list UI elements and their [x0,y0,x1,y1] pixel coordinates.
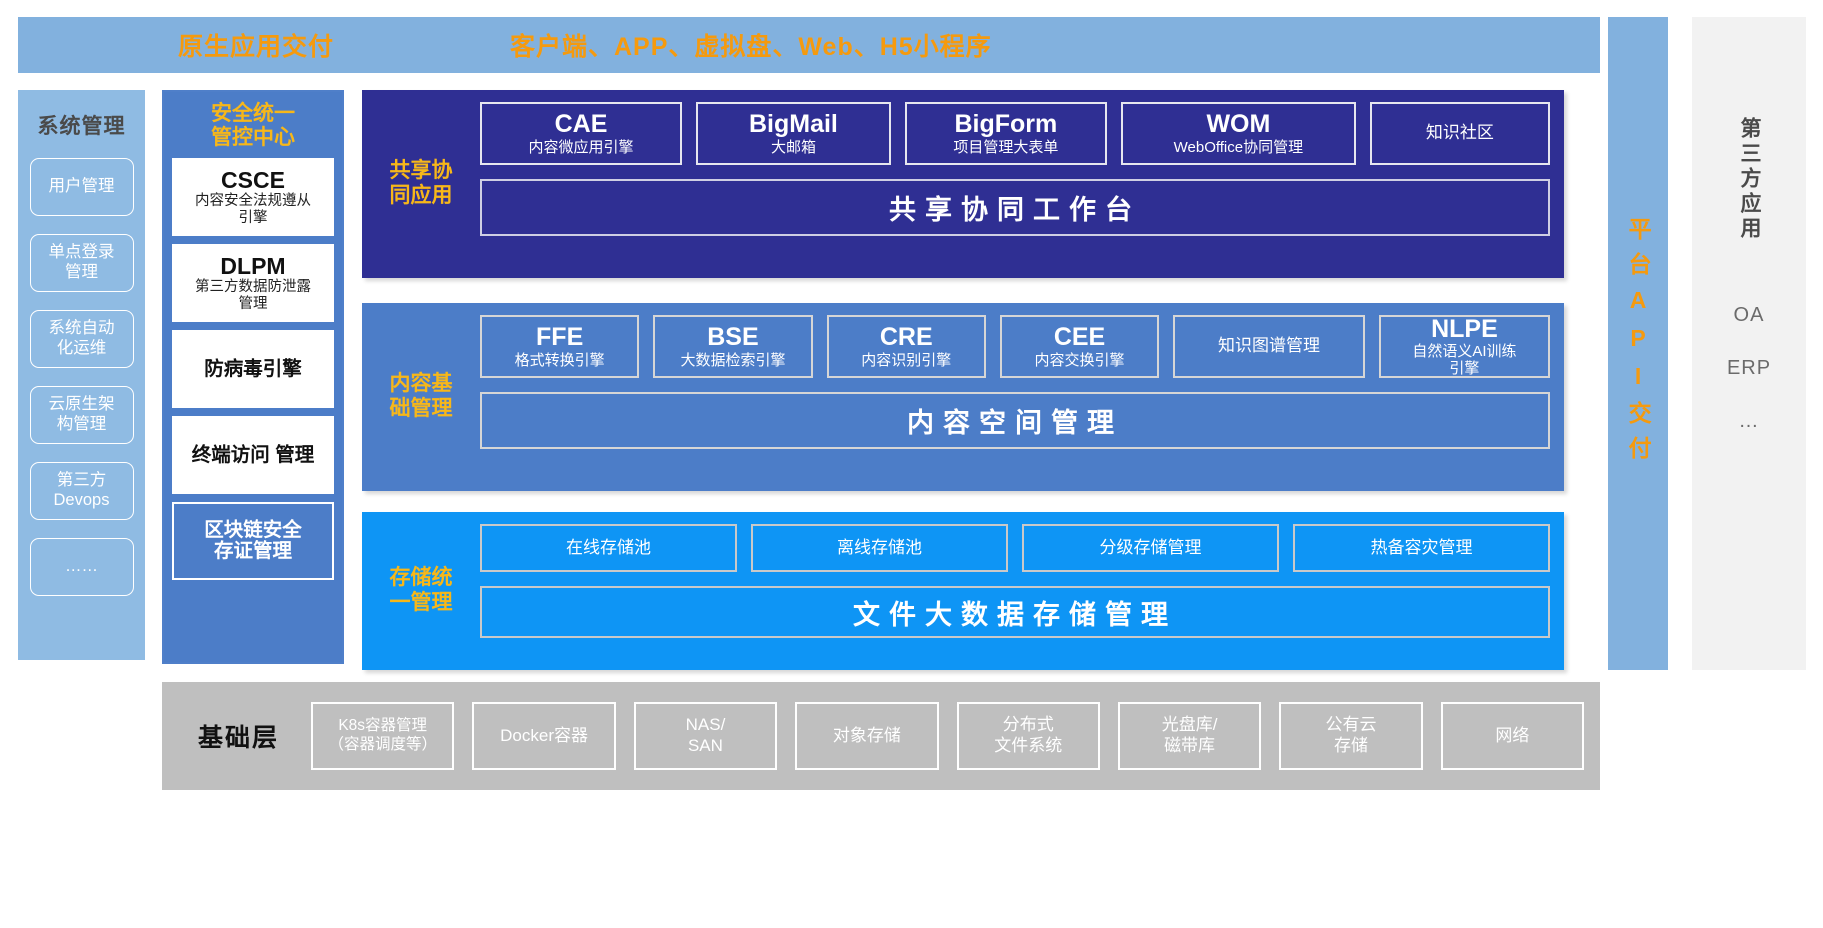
csce-abbr: CSCE [221,168,285,193]
top-delivery-banner: 原生应用交付 客户端、APP、虚拟盘、Web、H5小程序 [18,17,1600,73]
security-item-antivirus-engine[interactable]: 防病毒引擎 [172,330,334,408]
architecture-diagram: 原生应用交付 客户端、APP、虚拟盘、Web、H5小程序 系统管理 用户管理 单… [0,0,1823,928]
ffe-desc: 格式转换引擎 [515,352,605,369]
ffe-abbr: FFE [536,324,583,352]
antivirus-engine-label: 防病毒引擎 [204,359,302,380]
chip-nlpe[interactable]: NLPE 自然语义AI训练 引擎 [1379,315,1550,378]
chip-ffe[interactable]: FFE 格式转换引擎 [480,315,639,378]
chip-cre[interactable]: CRE 内容识别引擎 [827,315,986,378]
nlpe-abbr: NLPE [1431,316,1498,344]
shared-collaboration-label: 共享协 同应用 [362,90,480,278]
third-party-apps-panel: 第三方应用 OA ERP … [1692,17,1806,670]
online-storage-pool-label: 在线存储池 [566,538,651,558]
storage-management-body: 在线存储池 离线存储池 分级存储管理 热备容灾管理 文件大数据存储管理 [480,512,1564,670]
third-party-title: 第三方应用 [1734,117,1764,242]
bigmail-desc: 大邮箱 [771,139,816,156]
infra-item-object-storage[interactable]: 对象存储 [795,702,938,770]
chip-cae[interactable]: CAE 内容微应用引擎 [480,102,682,165]
security-item-blockchain-evidence[interactable]: 区块链安全 存证管理 [172,502,334,580]
knowledge-community-label: 知识社区 [1426,123,1494,143]
cee-abbr: CEE [1054,324,1105,352]
bse-abbr: BSE [707,324,758,352]
cae-desc: 内容微应用引擎 [529,139,634,156]
infra-item-public-cloud-storage[interactable]: 公有云 存储 [1279,702,1422,770]
chip-offline-storage-pool[interactable]: 离线存储池 [751,524,1008,572]
platform-api-label: 平台API交付 [1622,217,1654,471]
cee-desc: 内容交换引擎 [1035,352,1125,369]
file-bigdata-storage-bar[interactable]: 文件大数据存储管理 [480,586,1550,638]
security-control-center-panel: 安全统一 管控中心 CSCE 内容安全法规遵从 引擎 DLPM 第三方数据防泄露… [162,90,344,664]
security-center-title: 安全统一 管控中心 [211,102,295,150]
security-item-endpoint-access[interactable]: 终端访问 管理 [172,416,334,494]
content-base-management-body: FFE 格式转换引擎 BSE 大数据检索引擎 CRE 内容识别引擎 CEE 内容… [480,303,1564,491]
infra-item-k8s[interactable]: K8s容器管理 （容器调度等） [311,702,454,770]
dlpm-abbr: DLPM [220,254,285,279]
infra-item-distributed-fs[interactable]: 分布式 文件系统 [957,702,1100,770]
knowledge-graph-label: 知识图谱管理 [1218,336,1320,356]
chip-hot-backup-dr-management[interactable]: 热备容灾管理 [1293,524,1550,572]
infrastructure-layer: 基础层 K8s容器管理 （容器调度等） Docker容器 NAS/ SAN 对象… [162,682,1600,790]
chip-bigmail[interactable]: BigMail 大邮箱 [696,102,891,165]
chip-online-storage-pool[interactable]: 在线存储池 [480,524,737,572]
chip-cee[interactable]: CEE 内容交换引擎 [1000,315,1159,378]
third-party-item-oa[interactable]: OA [1734,304,1765,327]
sidebar-item-more[interactable]: …… [30,538,134,596]
shared-chip-row: CAE 内容微应用引擎 BigMail 大邮箱 BigForm 项目管理大表单 … [480,102,1550,165]
hot-backup-dr-label: 热备容灾管理 [1371,538,1473,558]
chip-bigform[interactable]: BigForm 项目管理大表单 [905,102,1107,165]
system-management-panel: 系统管理 用户管理 单点登录 管理 系统自动 化运维 云原生架 构管理 第三方 … [18,90,145,660]
chip-knowledge-community[interactable]: 知识社区 [1370,102,1550,165]
chip-knowledge-graph[interactable]: 知识图谱管理 [1173,315,1365,378]
sidebar-item-sso-management[interactable]: 单点登录 管理 [30,234,134,292]
shared-collaboration-body: CAE 内容微应用引擎 BigMail 大邮箱 BigForm 项目管理大表单 … [480,90,1564,278]
cre-abbr: CRE [880,324,933,352]
shared-collaboration-workbench-bar[interactable]: 共享协同工作台 [480,179,1550,236]
bse-desc: 大数据检索引擎 [680,352,785,369]
dlpm-desc: 第三方数据防泄露 管理 [195,279,311,313]
sidebar-item-user-management[interactable]: 用户管理 [30,158,134,216]
wom-abbr: WOM [1206,111,1270,139]
chip-wom[interactable]: WOM WebOffice协同管理 [1121,102,1356,165]
bigform-abbr: BigForm [954,111,1057,139]
cre-desc: 内容识别引擎 [861,352,951,369]
bigmail-abbr: BigMail [749,111,838,139]
tiered-storage-label: 分级存储管理 [1100,538,1202,558]
system-management-title: 系统管理 [38,110,126,140]
client-channels-label: 客户端、APP、虚拟盘、Web、H5小程序 [510,27,992,63]
bigform-desc: 项目管理大表单 [953,139,1058,156]
content-base-management-layer: 内容基 础管理 FFE 格式转换引擎 BSE 大数据检索引擎 CRE 内容识别引… [362,303,1564,491]
infra-item-docker[interactable]: Docker容器 [472,702,615,770]
cae-abbr: CAE [555,111,608,139]
sidebar-item-third-party-devops[interactable]: 第三方 Devops [30,462,134,520]
infra-item-network[interactable]: 网络 [1441,702,1584,770]
security-item-dlpm[interactable]: DLPM 第三方数据防泄露 管理 [172,244,334,322]
third-party-item-erp[interactable]: ERP [1727,357,1771,380]
infrastructure-title: 基础层 [198,718,279,754]
blockchain-evidence-label: 区块链安全 存证管理 [204,520,302,563]
infra-item-nas-san[interactable]: NAS/ SAN [634,702,777,770]
storage-chip-row: 在线存储池 离线存储池 分级存储管理 热备容灾管理 [480,524,1550,572]
endpoint-access-label: 终端访问 管理 [192,445,314,466]
offline-storage-pool-label: 离线存储池 [837,538,922,558]
wom-desc: WebOffice协同管理 [1174,139,1303,156]
shared-collaboration-layer: 共享协 同应用 CAE 内容微应用引擎 BigMail 大邮箱 BigForm … [362,90,1564,278]
native-app-delivery-label: 原生应用交付 [178,27,334,63]
infra-item-optical-tape-library[interactable]: 光盘库/ 磁带库 [1118,702,1261,770]
storage-unified-management-layer: 存储统 一管理 在线存储池 离线存储池 分级存储管理 热备容灾管理 文件大数据存… [362,512,1564,670]
platform-api-delivery-panel: 平台API交付 [1608,17,1668,670]
csce-desc: 内容安全法规遵从 引擎 [195,193,311,227]
content-space-management-bar[interactable]: 内容空间管理 [480,392,1550,449]
third-party-item-more: … [1739,410,1760,433]
chip-tiered-storage-management[interactable]: 分级存储管理 [1022,524,1279,572]
security-item-csce[interactable]: CSCE 内容安全法规遵从 引擎 [172,158,334,236]
nlpe-desc: 自然语义AI训练 引擎 [1412,343,1516,378]
chip-bse[interactable]: BSE 大数据检索引擎 [653,315,812,378]
sidebar-item-cloud-native-arch[interactable]: 云原生架 构管理 [30,386,134,444]
content-chip-row: FFE 格式转换引擎 BSE 大数据检索引擎 CRE 内容识别引擎 CEE 内容… [480,315,1550,378]
storage-management-label: 存储统 一管理 [362,512,480,670]
content-base-management-label: 内容基 础管理 [362,303,480,491]
sidebar-item-automation-ops[interactable]: 系统自动 化运维 [30,310,134,368]
